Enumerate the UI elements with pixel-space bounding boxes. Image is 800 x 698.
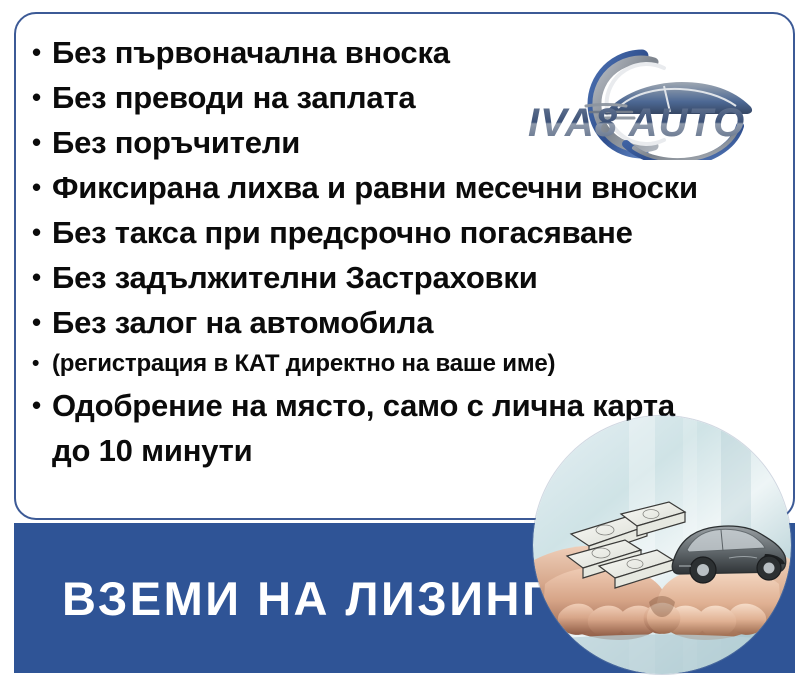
list-item-label: Без залог на автомобила [52, 300, 792, 345]
list-item: • Фиксирана лихва и равни месечни вноски [32, 165, 792, 210]
list-item-label: Фиксирана лихва и равни месечни вноски [52, 165, 792, 210]
bullet-marker-icon: • [32, 30, 52, 75]
list-item: • Без залог на автомобила [32, 300, 792, 345]
list-item: • Без такса при предсрочно погасяване [32, 210, 792, 255]
list-item: • Без задължителни Застраховки [32, 255, 792, 300]
logo-wordmark: IVA8 AUTO [528, 101, 745, 145]
bullet-marker-icon: • [32, 255, 52, 300]
bullet-marker-icon: • [32, 120, 52, 165]
cta-banner-label: ВЗЕМИ НА ЛИЗИНГ [62, 575, 551, 622]
list-item-note: • (регистрация в КАТ директно на ваше им… [32, 345, 792, 383]
bullet-marker-icon: • [32, 210, 52, 255]
bullet-marker-icon: • [32, 383, 52, 428]
hands-holding-money-and-car-photo [533, 416, 791, 674]
bullet-marker-icon: • [32, 300, 52, 345]
list-item-label: (регистрация в КАТ директно на ваше име) [52, 345, 792, 383]
bullet-marker-icon: • [32, 75, 52, 120]
leasing-advert-poster: • Без първоначална вноска • Без преводи … [0, 0, 800, 698]
list-item-label: Без такса при предсрочно погасяване [52, 210, 792, 255]
list-item-label: Без задължителни Застраховки [52, 255, 792, 300]
ivas-auto-logo: IVA8 AUTO [514, 48, 764, 160]
bullet-marker-icon: • [32, 165, 52, 210]
bullet-marker-icon: • [32, 345, 52, 383]
